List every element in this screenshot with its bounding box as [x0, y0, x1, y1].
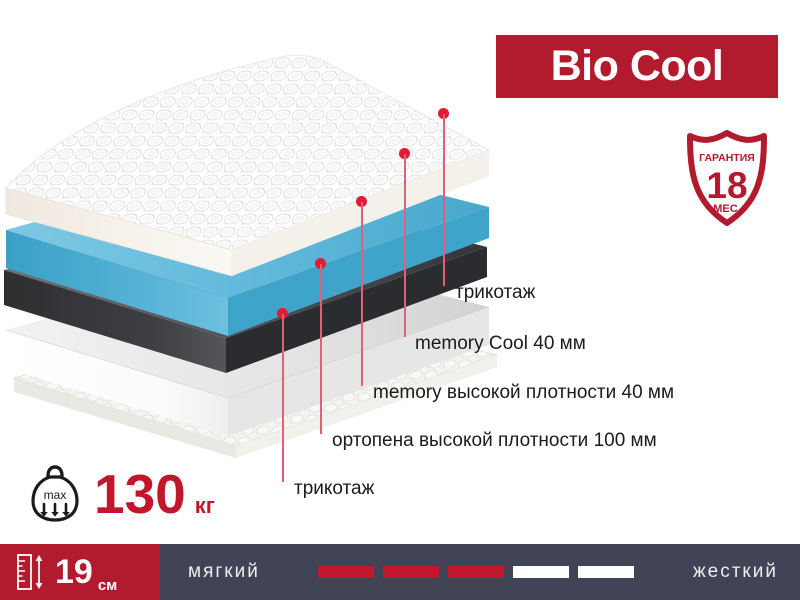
callout-line-bottom-knit [282, 314, 284, 482]
kettlebell-icon: max [28, 463, 82, 525]
callout-line-memory-cool [404, 154, 406, 337]
firmness-hard-label: жесткий [693, 561, 778, 583]
callout-label-memory-dense: memory высокой плотности 40 мм [373, 382, 674, 404]
warranty-number: 18 [706, 165, 747, 206]
firmness-segment [513, 566, 569, 578]
max-weight-block: max 130 кг [28, 463, 215, 525]
product-infographic: Bio Cool ГАРАНТИЯ 18 МЕС. трикотаж memor… [0, 0, 800, 600]
warranty-badge: ГАРАНТИЯ 18 МЕС. [685, 130, 769, 226]
max-weight-value: 130 [94, 467, 186, 522]
firmness-scale [318, 566, 634, 578]
height-block: 19 см [0, 544, 160, 600]
callout-line-memory-dense [361, 202, 363, 386]
callout-label-memory-cool: memory Cool 40 мм [415, 333, 586, 355]
callout-label-top-knit: трикотаж [455, 282, 535, 304]
product-title-banner: Bio Cool [496, 35, 778, 98]
firmness-segment [578, 566, 634, 578]
callout-line-ortopena [320, 264, 322, 434]
callout-line-top-knit [443, 114, 445, 286]
ruler-icon [16, 553, 46, 591]
warranty-top-label: ГАРАНТИЯ [699, 152, 755, 164]
page-title: Bio Cool [551, 45, 724, 88]
callout-label-ortopena: ортопена высокой плотности 100 мм [332, 430, 657, 452]
height-unit: см [98, 577, 117, 594]
callout-label-bottom-knit: трикотаж [294, 478, 374, 500]
firmness-segment [448, 566, 504, 578]
bottom-bar: 19 см мягкий жесткий [0, 544, 800, 600]
firmness-block: мягкий жесткий [160, 544, 800, 600]
firmness-soft-label: мягкий [188, 561, 260, 583]
kettlebell-max-text: max [44, 488, 67, 502]
max-weight-unit: кг [195, 493, 215, 519]
warranty-bottom-label: МЕС. [713, 203, 741, 215]
firmness-segment [318, 566, 374, 578]
firmness-segment [383, 566, 439, 578]
height-value: 19 [55, 555, 93, 589]
